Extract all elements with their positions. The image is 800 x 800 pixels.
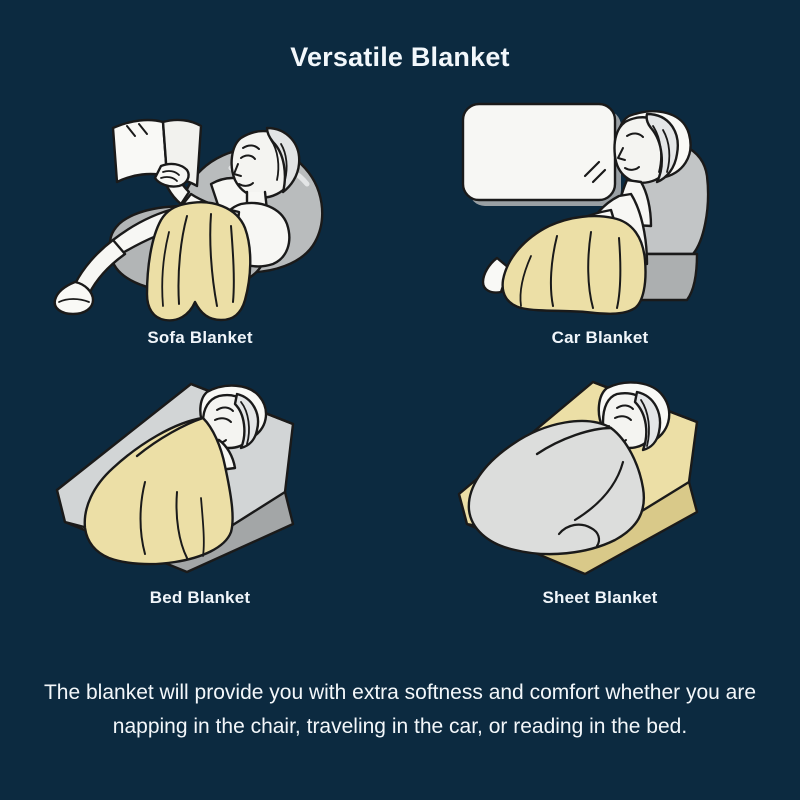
panel-sheet-blanket: Sheet Blanket: [400, 372, 800, 652]
car-blanket-illustration: [435, 92, 765, 324]
panel-label-sofa: Sofa Blanket: [147, 328, 252, 348]
footer-caption: The blanket will provide you with extra …: [30, 676, 770, 744]
panel-bed-blanket: Bed Blanket: [0, 372, 400, 652]
panel-label-car: Car Blanket: [552, 328, 649, 348]
panel-car-blanket: Car Blanket: [400, 92, 800, 372]
panel-grid: Sofa Blanket: [0, 92, 800, 652]
panel-label-sheet: Sheet Blanket: [542, 588, 657, 608]
sheet-blanket-illustration: [435, 372, 765, 584]
bed-blanket-illustration: [35, 372, 365, 584]
infographic-page: Versatile Blanket: [0, 0, 800, 800]
page-title: Versatile Blanket: [0, 42, 800, 73]
sofa-blanket-illustration: [35, 92, 365, 324]
panel-sofa-blanket: Sofa Blanket: [0, 92, 400, 372]
panel-label-bed: Bed Blanket: [150, 588, 250, 608]
